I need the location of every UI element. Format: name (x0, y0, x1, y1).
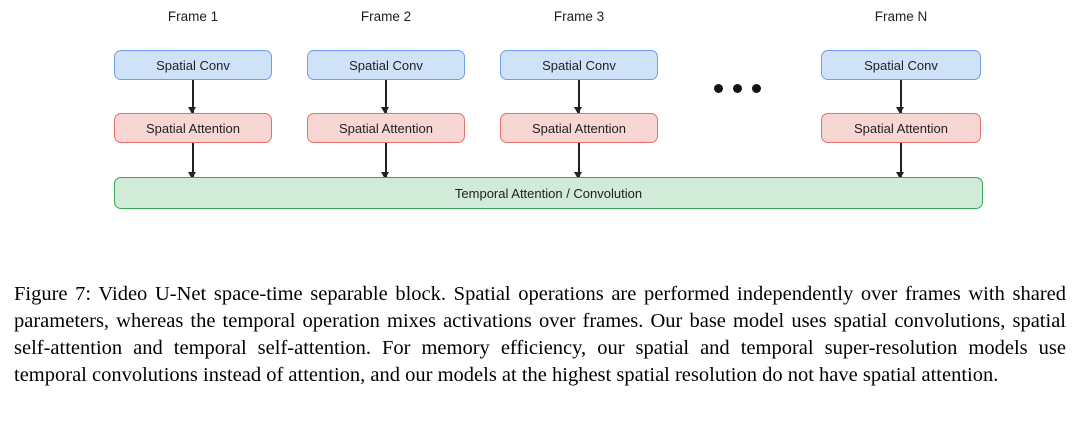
temporal-attention-convolution-bar: Temporal Attention / Convolution (114, 177, 983, 209)
spatial-attention-box-2: Spatial Attention (307, 113, 465, 143)
spatial-attention-box-1: Spatial Attention (114, 113, 272, 143)
figure-caption: Figure 7: Video U-Net space-time separab… (14, 281, 1066, 389)
spatial-conv-box-3: Spatial Conv (500, 50, 658, 80)
frame-label-2: Frame 2 (307, 9, 465, 25)
ellipsis-dot (733, 84, 742, 93)
arrow-conv-to-attention-3 (573, 80, 585, 113)
spatial-conv-box-n: Spatial Conv (821, 50, 981, 80)
spatial-attention-box-n: Spatial Attention (821, 113, 981, 143)
arrow-conv-to-attention-1 (187, 80, 199, 113)
arrow-attention-to-temporal-2 (380, 143, 392, 178)
frame-label-n: Frame N (821, 9, 981, 25)
spatial-conv-box-2: Spatial Conv (307, 50, 465, 80)
arrow-conv-to-attention-n (895, 80, 907, 113)
figure-diagram: Frame 1 Spatial Conv Spatial Attention F… (0, 0, 1080, 225)
spatial-conv-box-1: Spatial Conv (114, 50, 272, 80)
spatial-attention-box-3: Spatial Attention (500, 113, 658, 143)
figure-caption-text: Figure 7: Video U-Net space-time separab… (14, 281, 1066, 389)
frame-label-1: Frame 1 (114, 9, 272, 25)
ellipsis-dot (714, 84, 723, 93)
ellipsis-dot (752, 84, 761, 93)
arrow-attention-to-temporal-3 (573, 143, 585, 178)
ellipsis-indicator (714, 84, 761, 93)
arrow-attention-to-temporal-1 (187, 143, 199, 178)
arrow-attention-to-temporal-n (895, 143, 907, 178)
arrow-conv-to-attention-2 (380, 80, 392, 113)
frame-label-3: Frame 3 (500, 9, 658, 25)
